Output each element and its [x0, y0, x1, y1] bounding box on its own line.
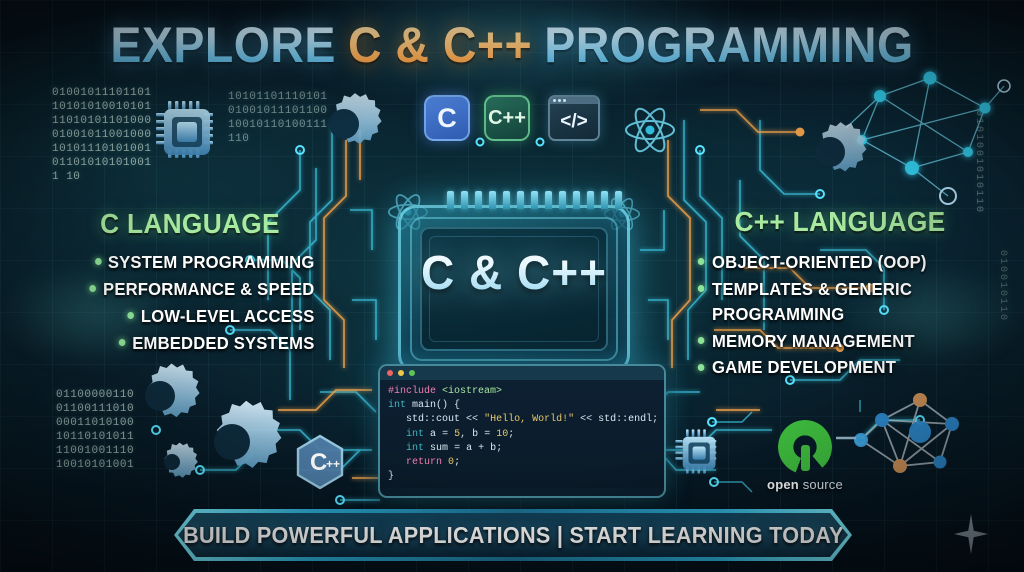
poster-canvas: 01001011101101 10101010010101 1101010110… — [0, 0, 1024, 572]
vignette-overlay — [0, 0, 1024, 572]
